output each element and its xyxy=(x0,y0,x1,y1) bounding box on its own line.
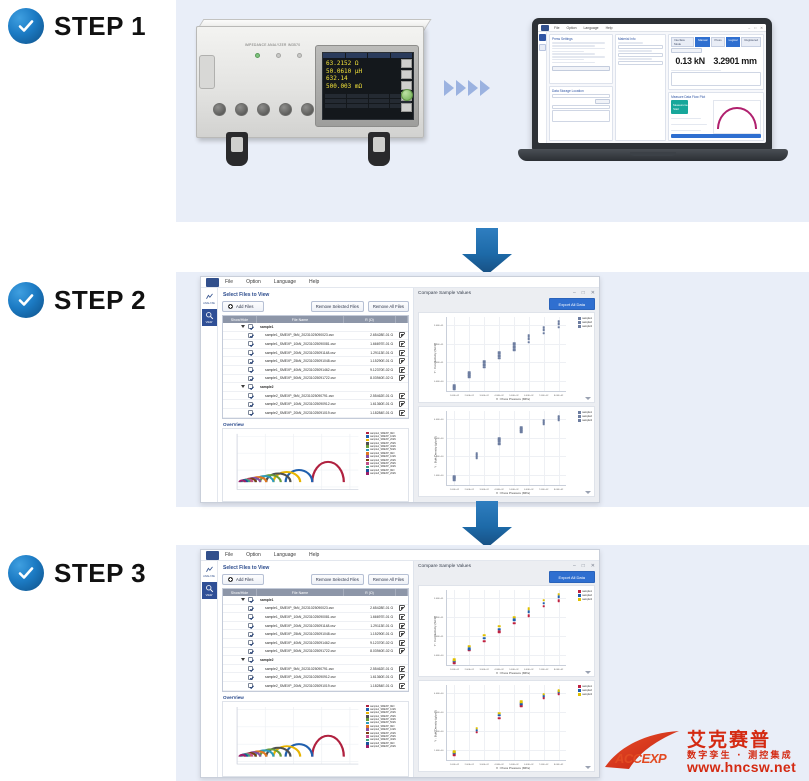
app-main: Select Files to View Add Files Remove Se… xyxy=(218,288,599,502)
row-checkbox[interactable] xyxy=(248,376,253,381)
conductivity-legend: sample1sample2sample3 xyxy=(578,317,592,328)
file-name-cell: sample2 xyxy=(257,658,344,662)
legend-item[interactable]: sample3 xyxy=(578,325,592,328)
bulk-density-plot-wrap: 1.00E+022.00E+023.00E+024.00E+025.00E+02… xyxy=(432,681,594,771)
edit-cell[interactable] xyxy=(396,410,408,416)
instrument-lcd-screen: 63.2152 Ω 50.0610 μH 632.14 500.003 mΩ xyxy=(322,52,414,120)
data-point xyxy=(520,700,523,703)
interface-mode-card: Interface Mode Manual Press Logical Regi… xyxy=(668,34,764,90)
mini-window-controls[interactable]: – □ ✕ xyxy=(748,26,763,30)
show-hide-cell[interactable] xyxy=(223,597,257,602)
row-checkbox[interactable] xyxy=(248,402,253,407)
mini-menu-option[interactable]: Option xyxy=(566,26,576,30)
legend-item[interactable]: sample1 xyxy=(578,411,592,414)
open-button[interactable] xyxy=(552,66,610,71)
row-checkbox[interactable] xyxy=(248,384,253,389)
edit-icon[interactable] xyxy=(399,648,405,654)
legend-label: sample3 xyxy=(582,325,592,328)
table-row[interactable]: sample2 xyxy=(223,383,408,392)
data-point xyxy=(498,357,501,360)
legend-swatch xyxy=(578,689,581,692)
instrument-indicator-leds xyxy=(255,53,302,58)
temperature-input[interactable] xyxy=(618,61,663,65)
lcd-readout-4: 500.003 mΩ xyxy=(326,83,410,91)
edit-icon[interactable] xyxy=(399,350,405,356)
edit-icon[interactable] xyxy=(399,367,405,373)
show-hide-cell[interactable] xyxy=(223,402,257,407)
file-name-cell: sample1_SMEXP_9kN_20231025090023.csv xyxy=(257,333,344,337)
table-row[interactable]: sample2_SMEXP_9kN_20231025090791.csv2.55… xyxy=(223,392,408,401)
instrument-foot-left xyxy=(226,132,248,166)
browse-button[interactable] xyxy=(595,99,610,104)
data-point xyxy=(557,599,560,602)
show-hide-cell[interactable] xyxy=(223,606,257,611)
close-icon[interactable]: ✕ xyxy=(591,291,595,296)
y-tick-label: 4.00E+00 xyxy=(434,419,443,421)
file-name-cell: sample1_SMEXP_10kN_20231025090081.csv xyxy=(257,342,344,346)
data-point xyxy=(453,659,456,662)
close-icon[interactable]: ✕ xyxy=(760,26,763,30)
menu-option[interactable]: Option xyxy=(246,279,261,285)
expand-triangle-icon[interactable] xyxy=(241,325,245,328)
bulk-density-legend: sample1sample2sample3 xyxy=(578,685,592,696)
data-point xyxy=(542,602,545,605)
chevron-right-icon xyxy=(468,80,478,96)
show-hide-cell[interactable] xyxy=(223,333,257,338)
conductivity-plot-wrap: 1.00E+022.00E+023.00E+024.00E+025.00E+02… xyxy=(432,313,594,402)
remote-led xyxy=(276,53,281,58)
menu-bar: File Option Language Help xyxy=(201,277,599,288)
edit-cell[interactable] xyxy=(396,614,408,620)
power-button[interactable] xyxy=(401,89,413,101)
material-info-card: Material Info xyxy=(615,34,666,141)
data-storage-card: Data Storage Location xyxy=(549,86,613,141)
app-body: ANALYZE VIEW Select Files to View Add F xyxy=(201,561,599,777)
step-2-panel: File Option Language Help ANALYZE VIEW xyxy=(176,272,809,507)
minimize-icon[interactable]: – xyxy=(748,26,750,30)
show-hide-cell[interactable] xyxy=(223,614,257,619)
instrument-lcd-bezel: HIOKI 63.2152 Ω 50.0610 μH 632.14 500.00… xyxy=(315,45,419,127)
menu-option[interactable]: Option xyxy=(246,552,261,558)
row-checkbox[interactable] xyxy=(248,350,253,355)
menu-file[interactable]: File xyxy=(225,552,233,558)
menu-help[interactable]: Help xyxy=(309,552,319,558)
tab-interface-mode[interactable]: Interface Mode xyxy=(671,37,694,47)
tab-manual[interactable]: Manual xyxy=(695,37,710,47)
sidebar-item-analyze[interactable]: ANALYZE xyxy=(202,290,217,307)
chevron-down-icon[interactable] xyxy=(585,397,591,400)
legend-item[interactable]: sample2 xyxy=(578,689,592,692)
overview-legend: sample1_SMEXP_9kNsample1_SMEXP_10kNsampl… xyxy=(364,702,408,776)
gridline-horizontal xyxy=(447,438,566,439)
conductivity-legend: sample1sample2sample3 xyxy=(578,590,592,601)
chevron-down-icon[interactable] xyxy=(585,491,591,494)
data-point xyxy=(468,371,471,374)
show-hide-cell[interactable] xyxy=(223,384,257,389)
table-row[interactable]: sample1_SMEXP_25kN_20231025091048.csv1.1… xyxy=(223,357,408,366)
table-row[interactable]: sample2_SMEXP_20kN_20231025091019.csv1.1… xyxy=(223,409,408,418)
table-row[interactable]: sample1_SMEXP_50kN_20231025091722.csv8.0… xyxy=(223,375,408,384)
down-arrow-icon xyxy=(461,501,513,549)
table-row[interactable]: sample1_SMEXP_10kN_20231025090081.csv1.6… xyxy=(223,613,408,622)
tab-press[interactable]: Press xyxy=(711,37,724,47)
legend-item[interactable]: sample3 xyxy=(578,693,592,696)
edit-cell[interactable] xyxy=(396,640,408,646)
analyze-icon[interactable] xyxy=(539,34,546,41)
legend-label: sample1 xyxy=(582,685,592,688)
bulk-density-xlabel: X : Press Pressure (MPa) xyxy=(432,491,594,495)
data-point xyxy=(483,640,486,643)
expand-triangle-icon[interactable] xyxy=(241,658,245,661)
row-checkbox[interactable] xyxy=(248,666,253,671)
maximize-icon[interactable]: □ xyxy=(582,564,585,569)
laptop-screen: File Option Language Help – □ ✕ xyxy=(538,24,766,143)
table-row[interactable]: sample1_SMEXP_25kN_20231025091048.csv1.1… xyxy=(223,630,408,639)
check-circle-icon xyxy=(8,555,44,591)
edit-icon[interactable] xyxy=(399,640,405,646)
edit-icon[interactable] xyxy=(399,605,405,611)
measurement-start-button[interactable]: Measurement Start xyxy=(671,100,688,114)
add-files-label: Add Files xyxy=(236,577,253,582)
show-hide-cell[interactable] xyxy=(223,376,257,381)
legend-item[interactable]: sample2 xyxy=(578,321,592,324)
overview-chart: sample1_SMEXP_9kNsample1_SMEXP_10kNsampl… xyxy=(222,428,409,502)
legend-item[interactable]: sample2 xyxy=(578,594,592,597)
row-checkbox[interactable] xyxy=(248,359,253,364)
table-row[interactable]: sample2 xyxy=(223,656,408,665)
legend-item[interactable]: sample2 xyxy=(578,415,592,418)
minimize-icon[interactable]: – xyxy=(573,291,576,296)
connector-guard xyxy=(213,103,226,116)
legend-swatch xyxy=(578,411,581,414)
compare-topbar: Compare Sample Values – □ ✕ xyxy=(418,564,595,569)
edit-cell[interactable] xyxy=(396,648,408,654)
stroke-readout: 3.2901 mm xyxy=(713,56,756,66)
minimize-icon[interactable]: – xyxy=(573,564,576,569)
bulk-density-legend: sample1sample2sample3 xyxy=(578,411,592,422)
file-name-cell: sample1 xyxy=(257,598,344,602)
show-hide-cell[interactable] xyxy=(223,649,257,654)
edit-cell[interactable] xyxy=(396,631,408,637)
table-row[interactable]: sample1_SMEXP_10kN_20231025090081.csv1.6… xyxy=(223,340,408,349)
analyze-icon xyxy=(205,565,214,574)
edit-icon[interactable] xyxy=(399,683,405,689)
edit-icon[interactable] xyxy=(399,393,405,399)
edit-icon[interactable] xyxy=(399,631,405,637)
bulk-density-plot-area: 1.00E+022.00E+023.00E+024.00E+025.00E+02… xyxy=(446,411,566,486)
legend-label: sample3 xyxy=(582,693,592,696)
row-checkbox[interactable] xyxy=(248,614,253,619)
files-table: Show/Hide File Name R (Ω) sample1sample1… xyxy=(222,588,409,692)
table-row[interactable]: sample1_SMEXP_40kN_20231025091462.csv9.1… xyxy=(223,639,408,648)
show-hide-cell[interactable] xyxy=(223,341,257,346)
edit-icon[interactable] xyxy=(399,623,405,629)
export-row: Export All Data xyxy=(418,571,595,583)
row-checkbox[interactable] xyxy=(248,393,253,398)
legend-item[interactable]: sample3 xyxy=(578,419,592,422)
lcd-readout-3: 632.14 xyxy=(326,75,410,83)
mini-left-column: Press Settings Data Storage Location xyxy=(549,34,613,141)
data-point xyxy=(528,341,531,344)
data-point xyxy=(557,415,560,418)
tab-registered[interactable]: Registered xyxy=(741,37,761,47)
sample-name-input[interactable] xyxy=(552,105,610,109)
chevron-right-icon xyxy=(444,80,454,96)
show-hide-cell[interactable] xyxy=(223,324,257,329)
window-controls[interactable]: – □ ✕ xyxy=(573,564,595,569)
row-checkbox[interactable] xyxy=(248,683,253,688)
y-tick-label: 4.00E+00 xyxy=(434,693,443,695)
edit-cell[interactable] xyxy=(396,605,408,611)
legend-item[interactable]: sample3_SMEXP_20kN xyxy=(366,472,407,475)
column-edit xyxy=(396,589,408,596)
bulk-density-scatter-card: Y : Bulk Density (g/cm³) 1.00E+022.00E+0… xyxy=(418,680,595,772)
legend-item[interactable]: sample3 xyxy=(578,598,592,601)
row-checkbox[interactable] xyxy=(248,341,253,346)
legend-swatch xyxy=(366,745,369,748)
add-files-label: Add Files xyxy=(236,304,253,309)
data-point xyxy=(513,349,516,352)
show-hide-cell[interactable] xyxy=(223,623,257,628)
preweight-input[interactable] xyxy=(618,53,663,57)
data-point xyxy=(498,442,501,445)
file-name-cell: sample1 xyxy=(257,325,344,329)
table-row[interactable]: sample2_SMEXP_20kN_20231025091019.csv1.1… xyxy=(223,682,408,691)
material-info-title: Material Info xyxy=(618,37,663,41)
edit-cell[interactable] xyxy=(396,358,408,364)
bulk-density-scatter-card: Y : Bulk Density (g/cm³) 1.00E+022.00E+0… xyxy=(418,406,595,497)
legend-item[interactable]: sample1 xyxy=(578,317,592,320)
edit-icon[interactable] xyxy=(399,410,405,416)
edit-icon[interactable] xyxy=(399,375,405,381)
interface-mode-tabs[interactable]: Interface Mode Manual Press Logical Regi… xyxy=(671,37,761,47)
mini-middle-column: Material Info xyxy=(615,34,666,141)
row-checkbox[interactable] xyxy=(248,367,253,372)
gridline-horizontal xyxy=(447,456,566,457)
resistance-cell: 8.03940E-02 Ω xyxy=(344,376,396,380)
table-row[interactable]: sample1_SMEXP_40kN_20231025091462.csv9.1… xyxy=(223,366,408,375)
step-3-label: STEP 3 xyxy=(8,555,146,591)
data-point xyxy=(542,693,545,696)
resistance-cell: 1.15290E-01 Ω xyxy=(344,632,396,636)
table-row[interactable]: sample1_SMEXP_50kN_20231025091722.csv8.0… xyxy=(223,648,408,657)
table-row[interactable]: sample2_SMEXP_9kN_20231025090791.csv2.55… xyxy=(223,665,408,674)
file-name-cell: sample2_SMEXP_20kN_20231025091019.csv xyxy=(257,684,344,688)
impedance-analyzer-photo: IMPEDANCE ANALYZER IM3570 HIOKI 63.2152 … xyxy=(190,16,435,176)
overview-series-curve xyxy=(312,461,344,481)
data-point xyxy=(475,727,478,730)
legend-swatch xyxy=(578,419,581,422)
chevron-down-icon[interactable] xyxy=(585,766,591,769)
show-hide-cell[interactable] xyxy=(223,410,257,415)
legend-swatch xyxy=(578,598,581,601)
row-checkbox[interactable] xyxy=(248,640,253,645)
edit-cell[interactable] xyxy=(396,341,408,347)
show-hide-cell[interactable] xyxy=(223,640,257,645)
data-point xyxy=(528,611,531,614)
menu-file[interactable]: File xyxy=(225,279,233,285)
mini-menu-help[interactable]: Help xyxy=(606,26,613,30)
show-hide-cell[interactable] xyxy=(223,632,257,637)
edit-cell[interactable] xyxy=(396,666,408,672)
file-name-cell: sample2_SMEXP_9kN_20231025090791.csv xyxy=(257,394,344,398)
sidebar-item-view[interactable]: VIEW xyxy=(202,309,217,326)
table-row[interactable]: sample1_SMEXP_9kN_20231025090023.csv2.65… xyxy=(223,332,408,341)
show-hide-cell[interactable] xyxy=(223,393,257,398)
maximize-icon[interactable]: □ xyxy=(582,291,585,296)
add-files-button[interactable]: Add Files xyxy=(222,301,264,312)
remove-selected-files-button[interactable]: Remove Selected Files xyxy=(311,574,364,585)
files-table-body[interactable]: sample1sample1_SMEXP_9kN_20231025090023.… xyxy=(223,323,408,418)
mini-body: Press Settings Data Storage Location xyxy=(538,32,766,143)
mass-input[interactable] xyxy=(618,45,663,49)
menu-language[interactable]: Language xyxy=(274,279,296,285)
data-point xyxy=(468,645,471,648)
row-checkbox[interactable] xyxy=(248,632,253,637)
view-icon[interactable] xyxy=(539,44,546,51)
edit-icon[interactable] xyxy=(399,358,405,364)
edit-icon[interactable] xyxy=(399,401,405,407)
show-hide-cell[interactable] xyxy=(223,683,257,688)
y-tick-label: 1.00E+00 xyxy=(434,750,443,752)
tab-logical[interactable]: Logical xyxy=(726,37,741,47)
show-hide-cell[interactable] xyxy=(223,350,257,355)
column-show-hide: Show/Hide xyxy=(223,589,257,596)
show-hide-cell[interactable] xyxy=(223,359,257,364)
data-point xyxy=(468,374,471,377)
edit-cell[interactable] xyxy=(396,623,408,629)
show-hide-cell[interactable] xyxy=(223,675,257,680)
row-checkbox[interactable] xyxy=(248,606,253,611)
root-folder-input[interactable] xyxy=(552,94,610,98)
sidebar-label-analyze: ANALYZE xyxy=(203,575,215,578)
legend-swatch xyxy=(578,325,581,328)
menu-help[interactable]: Help xyxy=(309,279,319,285)
file-name-cell: sample1_SMEXP_20kN_20231025091148.csv xyxy=(257,624,344,628)
edit-cell[interactable] xyxy=(396,375,408,381)
edit-cell[interactable] xyxy=(396,674,408,680)
edit-cell[interactable] xyxy=(396,367,408,373)
file-name-cell: sample2_SMEXP_10kN_20231025090912.csv xyxy=(257,675,344,679)
export-all-data-button[interactable]: Export All Data xyxy=(549,298,595,310)
legend-item[interactable]: sample1 xyxy=(578,685,592,688)
row-checkbox[interactable] xyxy=(248,324,253,329)
instrument-front-face: IMPEDANCE ANALYZER IM3570 HIOKI 63.2152 … xyxy=(196,26,424,138)
edit-cell[interactable] xyxy=(396,332,408,338)
step-2-label: STEP 2 xyxy=(8,282,146,318)
bulk-density-y-axis: Y : Bulk Density (g/cm³) xyxy=(419,681,432,771)
row-checkbox[interactable] xyxy=(248,623,253,628)
menu-language[interactable]: Language xyxy=(274,552,296,558)
press-settings-card: Press Settings xyxy=(549,34,613,84)
edit-cell[interactable] xyxy=(396,683,408,689)
table-row[interactable]: sample1_SMEXP_20kN_20231025091148.csv1.2… xyxy=(223,622,408,631)
conductivity-xlabel: X : Press Pressure (MPa) xyxy=(432,671,594,675)
edit-icon[interactable] xyxy=(399,341,405,347)
table-row[interactable]: sample1_SMEXP_9kN_20231025090023.csv2.65… xyxy=(223,605,408,614)
edit-cell[interactable] xyxy=(396,393,408,399)
row-checkbox[interactable] xyxy=(248,597,253,602)
resistance-cell: 1.18284E-01 Ω xyxy=(344,411,396,415)
compare-sample-values-pane: Compare Sample Values – □ ✕ Export All D… xyxy=(414,288,599,502)
table-row[interactable]: sample1_SMEXP_20kN_20231025091148.csv1.2… xyxy=(223,349,408,358)
sidebar-label-view: VIEW xyxy=(206,594,213,597)
window-controls[interactable]: – □ ✕ xyxy=(573,291,595,296)
legend-item[interactable]: sample3_SMEXP_20kN xyxy=(366,745,407,748)
table-row[interactable]: sample2_SMEXP_10kN_20231025090912.csv1.6… xyxy=(223,400,408,409)
menu-bar: File Option Language Help xyxy=(201,550,599,561)
edit-icon[interactable] xyxy=(399,674,405,680)
chevron-down-icon[interactable] xyxy=(585,671,591,674)
edit-cell[interactable] xyxy=(396,401,408,407)
legend-swatch xyxy=(578,415,581,418)
row-checkbox[interactable] xyxy=(248,333,253,338)
export-all-data-button[interactable]: Export All Data xyxy=(549,571,595,583)
expand-triangle-icon[interactable] xyxy=(241,598,245,601)
resistance-cell: 1.29113E-01 Ω xyxy=(344,624,396,628)
row-checkbox[interactable] xyxy=(248,410,253,415)
force-readout: 0.13 kN xyxy=(675,56,704,66)
export-row: Export All Data xyxy=(418,298,595,310)
sidebar-label-analyze: ANALYZE xyxy=(203,302,215,305)
mini-menu-language[interactable]: Language xyxy=(583,26,598,30)
file-name-cell: sample2_SMEXP_9kN_20231025090791.csv xyxy=(257,667,344,671)
mini-menubar: File Option Language Help – □ ✕ xyxy=(538,24,766,32)
column-show-hide: Show/Hide xyxy=(223,316,257,323)
edit-icon[interactable] xyxy=(399,332,405,338)
show-hide-cell[interactable] xyxy=(223,367,257,372)
press-software-window: File Option Language Help – □ ✕ xyxy=(538,24,766,143)
table-row[interactable]: sample2_SMEXP_10kN_20231025090912.csv1.6… xyxy=(223,673,408,682)
legend-item[interactable]: sample1 xyxy=(578,590,592,593)
sidebar-item-view[interactable]: VIEW xyxy=(202,582,217,599)
step-2-row: STEP 2 File Option Language Help ANALYZE xyxy=(0,272,809,507)
show-hide-cell[interactable] xyxy=(223,657,257,662)
lcd-readout-2: 50.0610 μH xyxy=(326,68,410,76)
legend-swatch xyxy=(578,693,581,696)
files-table-body[interactable]: sample1sample1_SMEXP_9kN_20231025090023.… xyxy=(223,596,408,691)
remove-all-files-button[interactable]: Remove All Files xyxy=(368,574,409,585)
table-row[interactable]: sample1 xyxy=(223,323,408,332)
file-tree[interactable] xyxy=(552,110,610,122)
files-toolbar: Add Files Remove Selected Files Remove A… xyxy=(222,301,409,312)
edit-icon[interactable] xyxy=(399,666,405,672)
mini-menu-file[interactable]: File xyxy=(554,26,559,30)
remove-all-files-button[interactable]: Remove All Files xyxy=(368,301,409,312)
add-files-button[interactable]: Add Files xyxy=(222,574,264,585)
sidebar-item-analyze[interactable]: ANALYZE xyxy=(202,563,217,580)
lcd-readout-area: 63.2152 Ω 50.0610 μH 632.14 500.003 mΩ xyxy=(323,58,413,92)
files-table: Show/Hide File Name R (Ω) sample1sample1… xyxy=(222,315,409,419)
overview-chart: sample1_SMEXP_9kNsample1_SMEXP_10kNsampl… xyxy=(222,701,409,777)
view-icon xyxy=(205,311,214,320)
expand-triangle-icon[interactable] xyxy=(241,385,245,388)
row-checkbox[interactable] xyxy=(248,649,253,654)
table-row[interactable]: sample1 xyxy=(223,596,408,605)
close-icon[interactable]: ✕ xyxy=(591,564,595,569)
edit-icon[interactable] xyxy=(399,614,405,620)
show-hide-cell[interactable] xyxy=(223,666,257,671)
power-led xyxy=(255,53,260,58)
edit-cell[interactable] xyxy=(396,350,408,356)
compare-title: Compare Sample Values xyxy=(418,291,471,296)
row-checkbox[interactable] xyxy=(248,675,253,680)
maximize-icon[interactable]: □ xyxy=(754,26,756,30)
row-checkbox[interactable] xyxy=(248,657,253,662)
file-name-cell: sample1_SMEXP_9kN_20231025090023.csv xyxy=(257,606,344,610)
legend-swatch xyxy=(578,590,581,593)
remove-selected-files-button[interactable]: Remove Selected Files xyxy=(311,301,364,312)
